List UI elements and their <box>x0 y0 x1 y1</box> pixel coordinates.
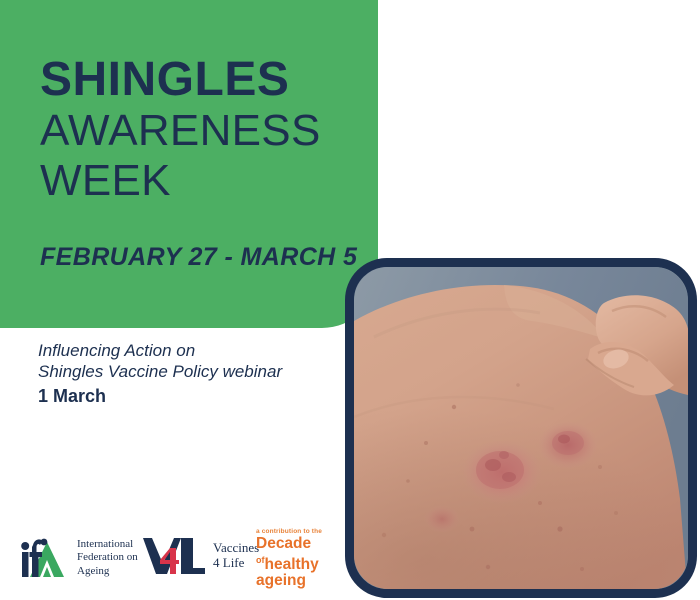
v4l-logo-svg <box>143 534 205 576</box>
partner-logo-bar: International Federation on Ageing Vacci… <box>0 518 700 592</box>
headline-line-shingles: SHINGLES <box>40 54 370 106</box>
decade-line-healthy: ofhealthy <box>256 552 322 573</box>
webinar-title-line-1: Influencing Action on <box>38 340 282 361</box>
webinar-title-line-2: Shingles Vaccine Policy webinar <box>38 361 282 382</box>
v4l-monogram-icon <box>143 534 205 576</box>
headline-line-awareness: AWARENESS <box>40 106 370 156</box>
webinar-date: 1 March <box>38 384 282 408</box>
shingles-awareness-week-poster: SHINGLES AWARENESS WEEK FEBRUARY 27 - MA… <box>0 0 700 600</box>
webinar-caption-block: Influencing Action on Shingles Vaccine P… <box>38 340 282 408</box>
decade-line-decade: Decade <box>256 536 322 552</box>
decade-word-of: of <box>256 555 265 565</box>
v4l-text-line-1: Vaccines <box>213 540 259 555</box>
v4l-logo-text: Vaccines 4 Life <box>213 540 259 570</box>
ifa-text-line-1: International <box>77 538 138 552</box>
ifa-text-line-3: Ageing <box>77 565 138 579</box>
ifa-monogram-icon <box>20 536 68 580</box>
decade-word-healthy: healthy <box>265 556 319 573</box>
v4l-text-line-2: 4 Life <box>213 555 259 570</box>
headline-line-week: WEEK <box>40 156 370 206</box>
ifa-text-line-2: Federation on <box>77 551 138 565</box>
headline-block: SHINGLES AWARENESS WEEK <box>40 54 370 206</box>
logo-ifa: International Federation on Ageing <box>20 536 138 580</box>
decade-tagline: a contribution to the <box>256 528 322 535</box>
logo-v4l: Vaccines 4 Life <box>143 534 259 576</box>
ifa-logo-text: International Federation on Ageing <box>77 538 138 579</box>
decade-line-ageing: ageing <box>256 573 322 589</box>
logo-decade-of-healthy-ageing: a contribution to the Decade ofhealthy a… <box>256 528 322 589</box>
event-date-range: FEBRUARY 27 - MARCH 5 <box>40 243 357 272</box>
ifa-logo-svg <box>20 536 68 580</box>
